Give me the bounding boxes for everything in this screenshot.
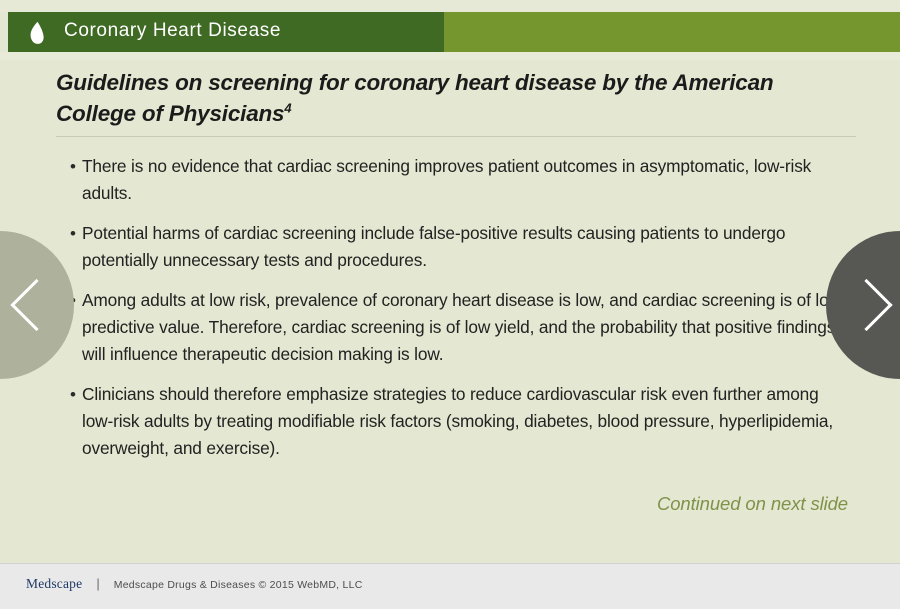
continued-note: Continued on next slide <box>657 493 848 515</box>
slide-header: Coronary Heart Disease <box>8 12 900 52</box>
flame-drop-icon <box>26 21 48 45</box>
slide-content: Guidelines on screening for coronary hea… <box>0 60 900 563</box>
chevron-left-icon <box>10 279 62 331</box>
slide-title: Guidelines on screening for coronary hea… <box>56 67 816 129</box>
bullet-marker: • <box>56 381 82 462</box>
top-margin-strip <box>0 0 900 12</box>
medscape-logo[interactable]: Medscape <box>26 576 82 592</box>
bullet-marker: • <box>56 153 82 207</box>
header-underband <box>0 52 900 60</box>
bullet-text: Potential harms of cardiac screening inc… <box>82 220 846 274</box>
title-divider <box>56 136 856 137</box>
list-item: • Among adults at low risk, prevalence o… <box>56 287 846 368</box>
chevron-right-icon <box>840 279 892 331</box>
slide-title-line-1: Guidelines on screening for coronary hea… <box>56 70 773 95</box>
header-bar-light <box>444 12 900 52</box>
slide-footer: Medscape | Medscape Drugs & Diseases © 2… <box>0 563 900 609</box>
slide-title-line-2: College of Physicians <box>56 101 284 126</box>
footer-separator: | <box>96 576 99 591</box>
slide-title-superscript: 4 <box>284 101 291 116</box>
presentation-slide: Coronary Heart Disease Guidelines on scr… <box>0 0 900 609</box>
header-title: Coronary Heart Disease <box>64 20 281 42</box>
bullet-text: Among adults at low risk, prevalence of … <box>82 287 846 368</box>
bullet-text: Clinicians should therefore emphasize st… <box>82 381 846 462</box>
bullet-text: There is no evidence that cardiac screen… <box>82 153 846 207</box>
list-item: • Potential harms of cardiac screening i… <box>56 220 846 274</box>
bullet-list: • There is no evidence that cardiac scre… <box>56 153 846 475</box>
list-item: • There is no evidence that cardiac scre… <box>56 153 846 207</box>
footer-copyright: Medscape Drugs & Diseases © 2015 WebMD, … <box>114 579 363 591</box>
footer-left-group: Medscape | Medscape Drugs & Diseases © 2… <box>26 576 880 592</box>
list-item: • Clinicians should therefore emphasize … <box>56 381 846 462</box>
